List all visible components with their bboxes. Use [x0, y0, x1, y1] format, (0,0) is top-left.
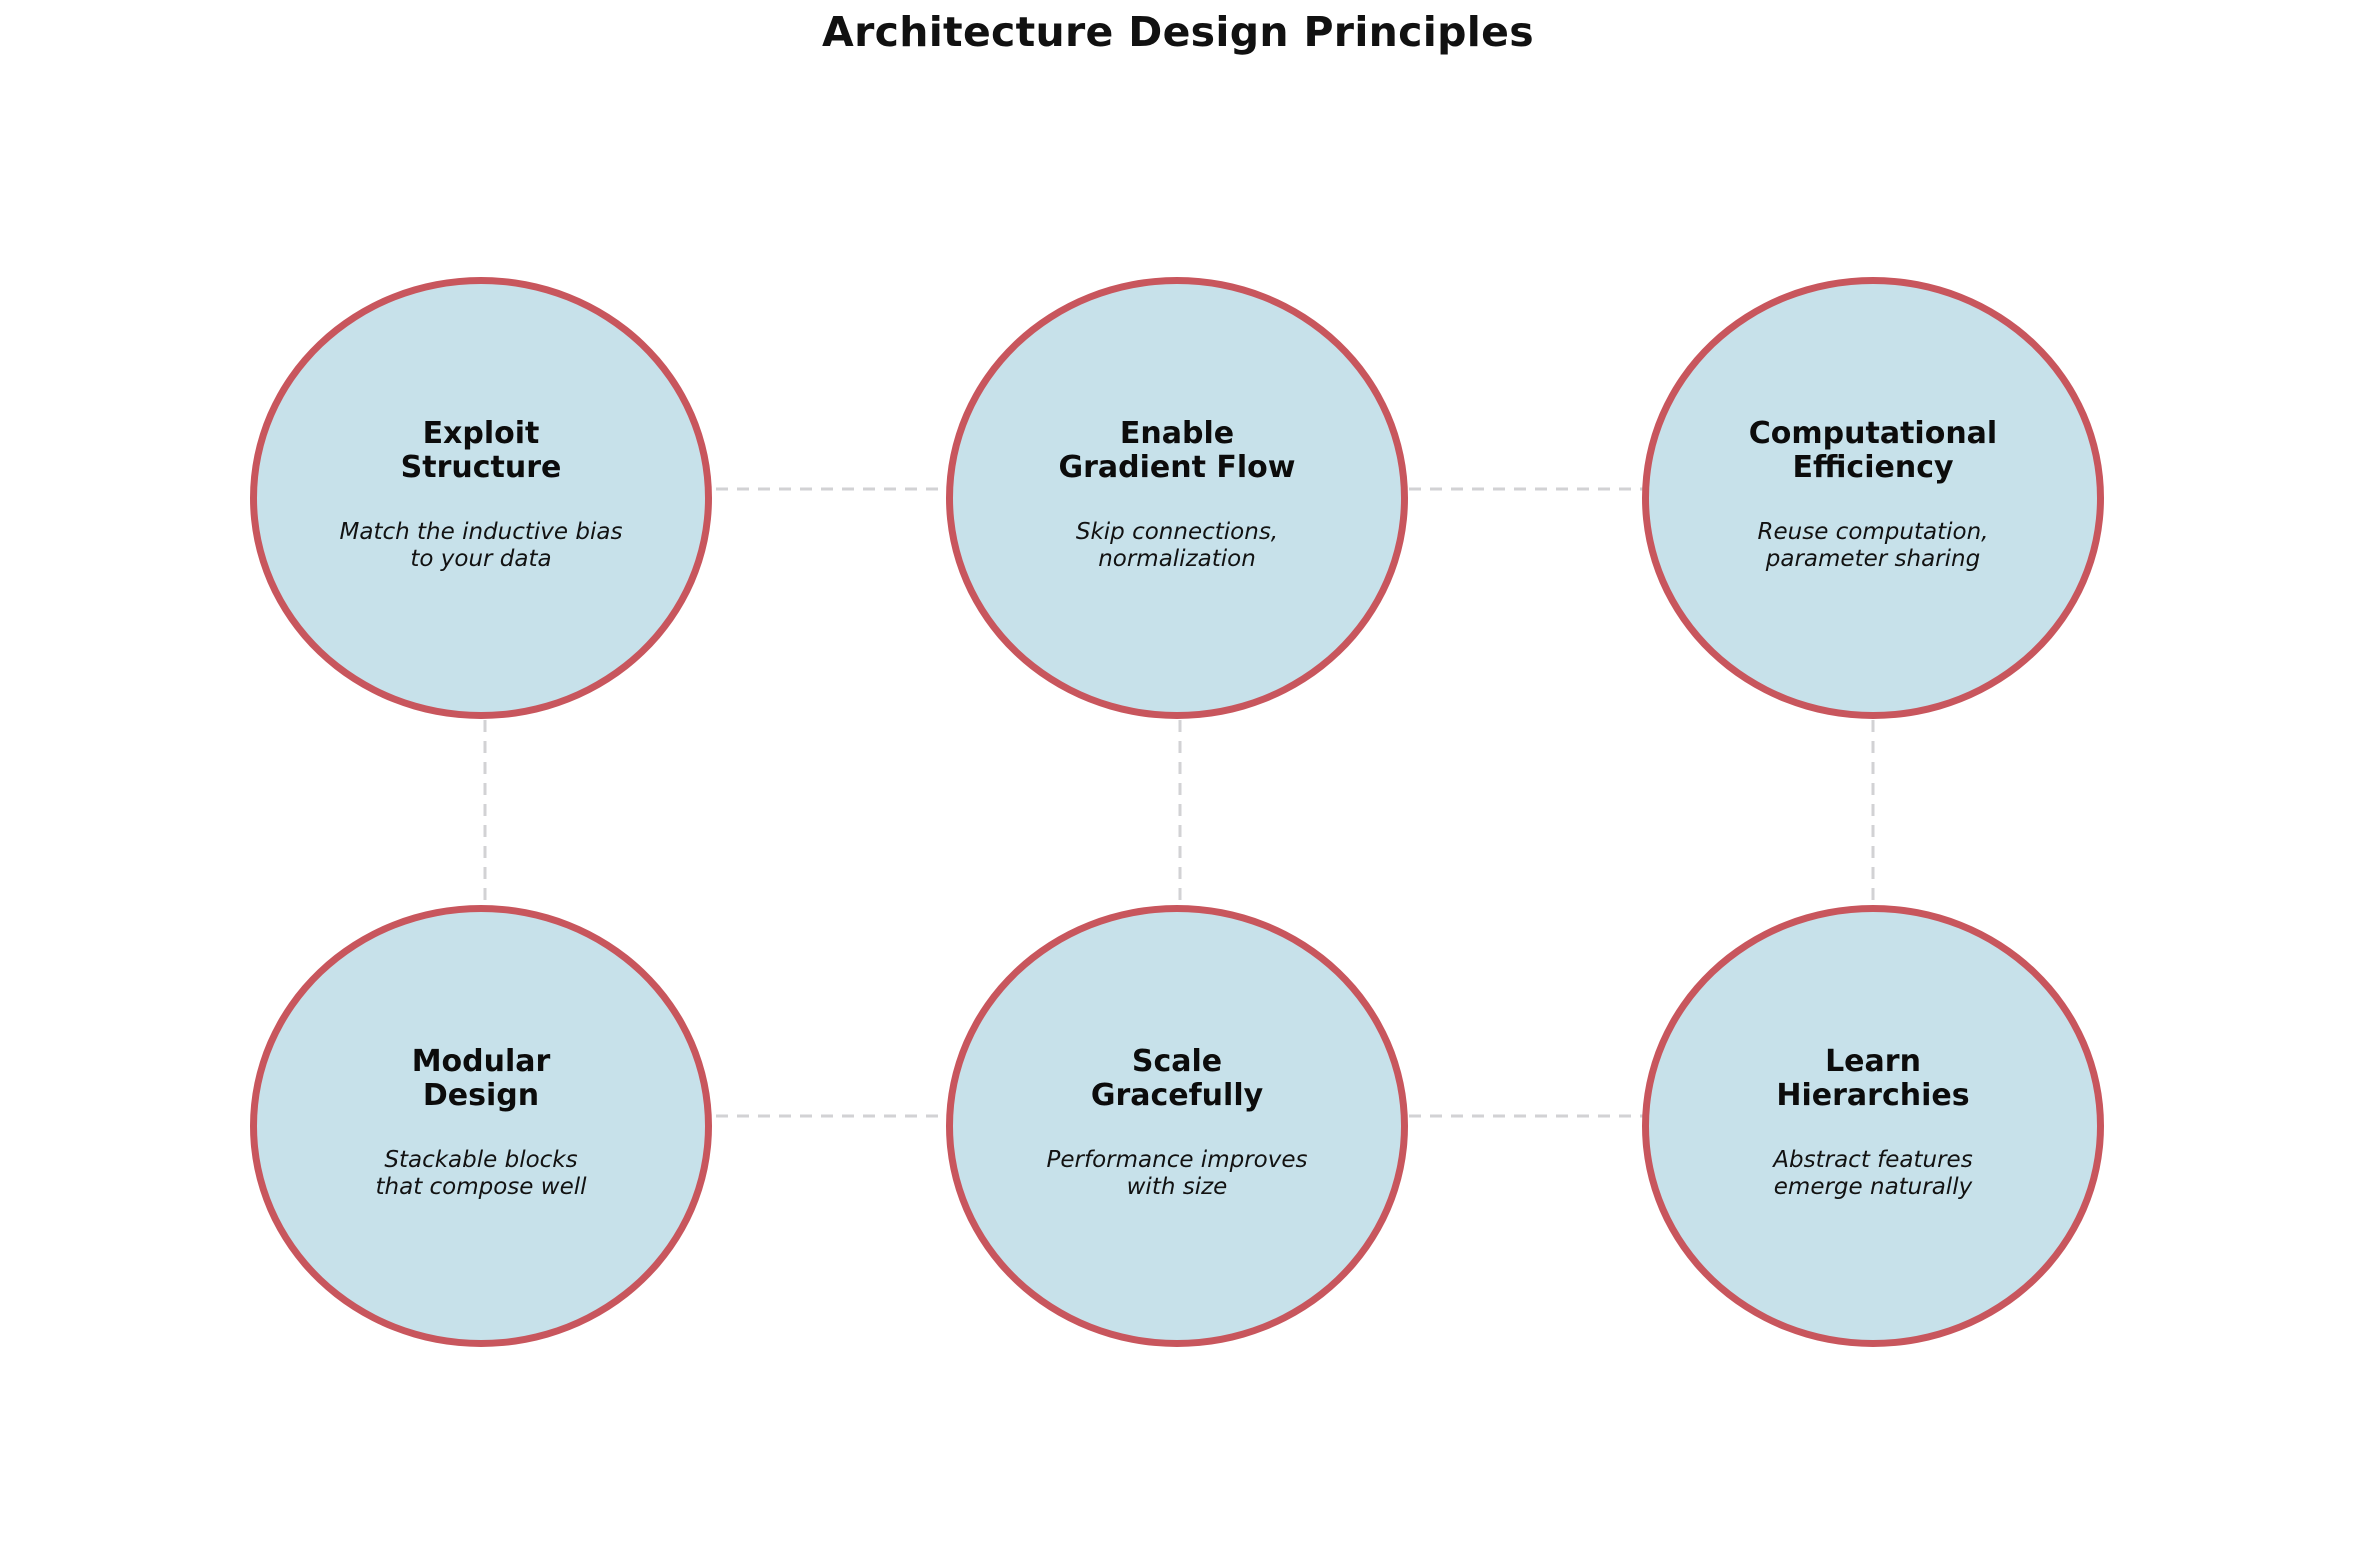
node-title: Computational Efficiency — [1749, 417, 1997, 487]
node-title: Enable Gradient Flow — [1058, 417, 1295, 487]
node-description: Performance improves with size — [1047, 1147, 1308, 1201]
node-scale-gracefully[interactable]: Scale GracefullyPerformance improves wit… — [946, 905, 1408, 1347]
node-title: Modular Design — [412, 1045, 551, 1115]
diagram-canvas: Architecture Design Principles Exploit S… — [0, 0, 2356, 1554]
node-computational-efficiency[interactable]: Computational EfficiencyReuse computatio… — [1642, 277, 2104, 719]
page-title: Architecture Design Principles — [0, 0, 2356, 53]
node-description: Stackable blocks that compose well — [376, 1147, 587, 1201]
node-enable-gradient-flow[interactable]: Enable Gradient FlowSkip connections, no… — [946, 277, 1408, 719]
node-learn-hierarchies[interactable]: Learn HierarchiesAbstract features emerg… — [1642, 905, 2104, 1347]
node-title: Scale Gracefully — [1091, 1045, 1263, 1115]
node-description: Abstract features emerge naturally — [1773, 1147, 1972, 1201]
node-title: Learn Hierarchies — [1776, 1045, 1969, 1115]
node-description: Reuse computation, parameter sharing — [1758, 519, 1989, 573]
node-title: Exploit Structure — [401, 417, 562, 487]
node-exploit-structure[interactable]: Exploit StructureMatch the inductive bia… — [250, 277, 712, 719]
node-modular-design[interactable]: Modular DesignStackable blocks that comp… — [250, 905, 712, 1347]
node-description: Match the inductive bias to your data — [340, 519, 623, 573]
node-description: Skip connections, normalization — [1076, 519, 1278, 573]
